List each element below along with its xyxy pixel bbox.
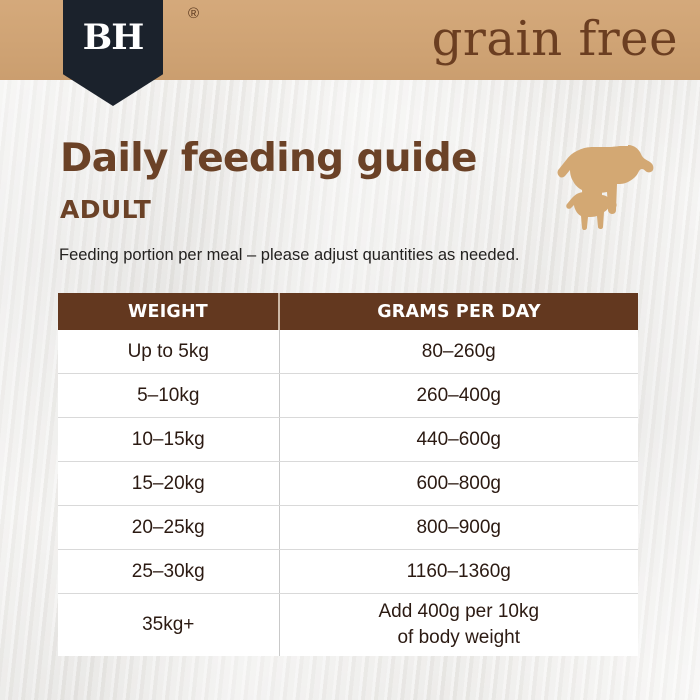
- adult-dog-and-puppy-silhouette-icon: [533, 138, 665, 238]
- life-stage-label: ADULT: [60, 195, 151, 225]
- cell-weight: 35kg+: [58, 594, 279, 657]
- cell-weight: 20–25kg: [58, 506, 279, 550]
- cell-grams: 600–800g: [279, 462, 638, 506]
- bh-logo-shield: BH: [63, 0, 163, 106]
- feeding-note: Feeding portion per meal – please adjust…: [59, 244, 519, 266]
- cell-grams-line-2: of body weight: [280, 625, 639, 651]
- table-row: 15–20kg 600–800g: [58, 462, 638, 506]
- table-row: 25–30kg 1160–1360g: [58, 550, 638, 594]
- cell-grams-line-1: Add 400g per 10kg: [280, 599, 639, 625]
- table-row: 35kg+ Add 400g per 10kg of body weight: [58, 594, 638, 657]
- table-row: 20–25kg 800–900g: [58, 506, 638, 550]
- registered-trademark-icon: ®: [188, 6, 199, 21]
- table-row: 10–15kg 440–600g: [58, 418, 638, 462]
- cell-weight: 5–10kg: [58, 374, 279, 418]
- cell-grams: 440–600g: [279, 418, 638, 462]
- table-header-row: WEIGHT GRAMS PER DAY: [58, 293, 638, 330]
- cell-grams: 800–900g: [279, 506, 638, 550]
- page-title: Daily feeding guide: [60, 136, 477, 182]
- cell-grams: 1160–1360g: [279, 550, 638, 594]
- bh-logo-text: BH: [83, 19, 144, 57]
- column-header-weight: WEIGHT: [58, 293, 279, 330]
- cell-weight: 25–30kg: [58, 550, 279, 594]
- cell-weight: 15–20kg: [58, 462, 279, 506]
- cell-grams: 260–400g: [279, 374, 638, 418]
- column-header-grams-per-day: GRAMS PER DAY: [279, 293, 638, 330]
- feeding-guide-page: grain free BH ® Daily feeding guide ADUL…: [0, 0, 700, 700]
- feeding-table: WEIGHT GRAMS PER DAY Up to 5kg 80–260g 5…: [58, 293, 638, 656]
- cell-weight: Up to 5kg: [58, 330, 279, 374]
- cell-grams: 80–260g: [279, 330, 638, 374]
- table-row: 5–10kg 260–400g: [58, 374, 638, 418]
- grain-free-tagline: grain free: [432, 8, 678, 70]
- cell-weight: 10–15kg: [58, 418, 279, 462]
- table-row: Up to 5kg 80–260g: [58, 330, 638, 374]
- cell-grams: Add 400g per 10kg of body weight: [279, 594, 638, 657]
